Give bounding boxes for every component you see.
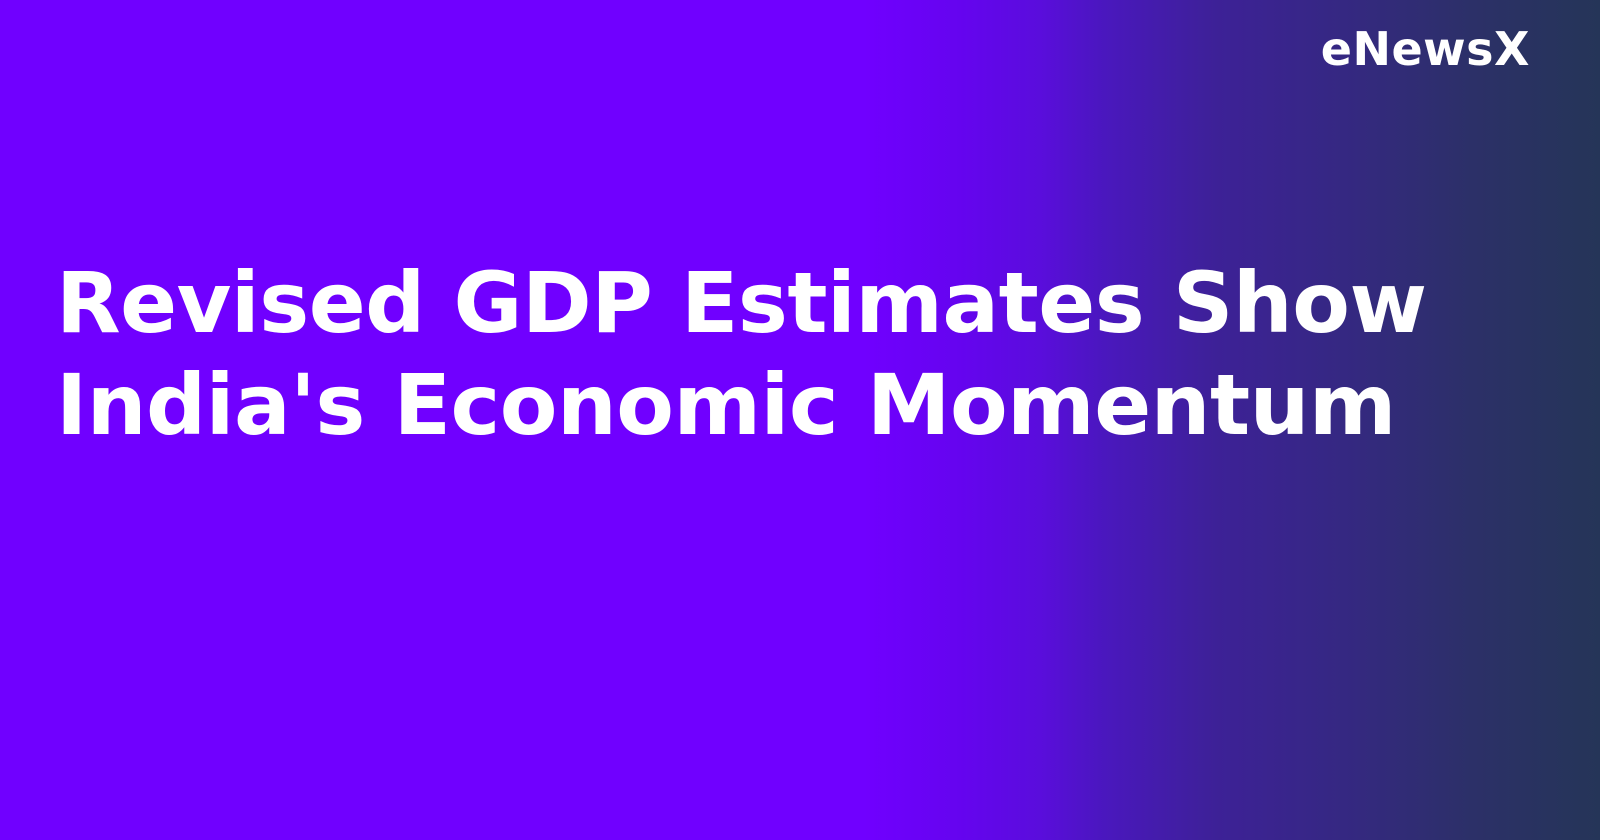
headline-block: Revised GDP Estimates Show India's Econo… [56, 252, 1496, 456]
news-card: eNewsX Revised GDP Estimates Show India'… [0, 0, 1600, 840]
headline-text: Revised GDP Estimates Show India's Econo… [56, 252, 1496, 456]
brand-logo: eNewsX [1321, 26, 1530, 72]
brand-wordmark: eNewsX [1321, 26, 1530, 72]
